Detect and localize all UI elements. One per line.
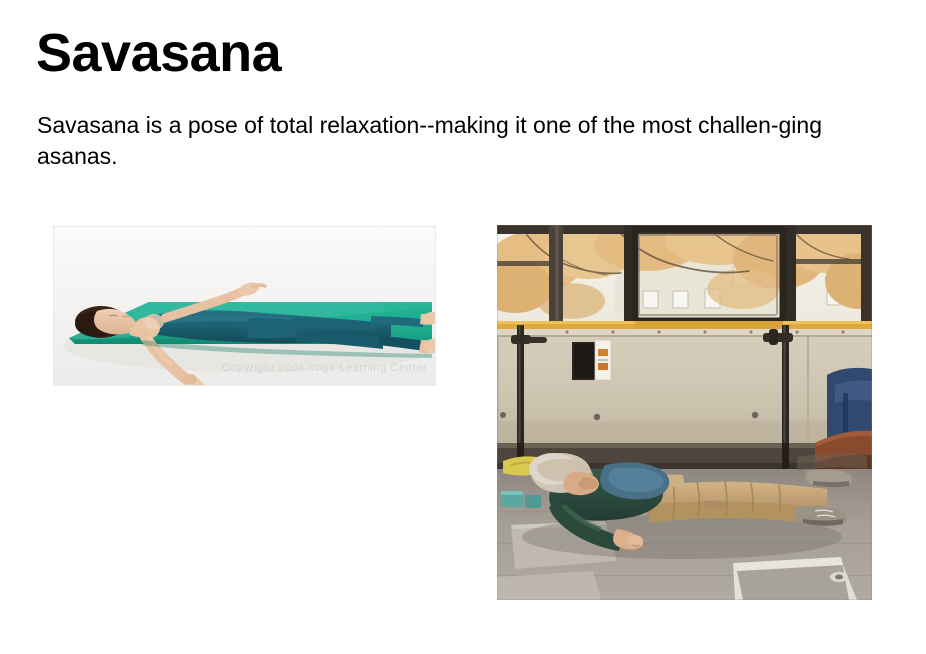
slide-body-text: Savasana is a pose of total relaxation--… (37, 110, 882, 172)
slide-canvas: Savasana Savasana is a pose of total rel… (0, 0, 926, 654)
yoga-savasana-photo: Copyright 2004 Yoga Learning Center (53, 226, 436, 386)
yoga-savasana-illustration (53, 226, 436, 386)
tram-sleeping-man-photo (497, 225, 872, 600)
page-title: Savasana (36, 23, 281, 83)
tram-interior-illustration (497, 225, 872, 600)
